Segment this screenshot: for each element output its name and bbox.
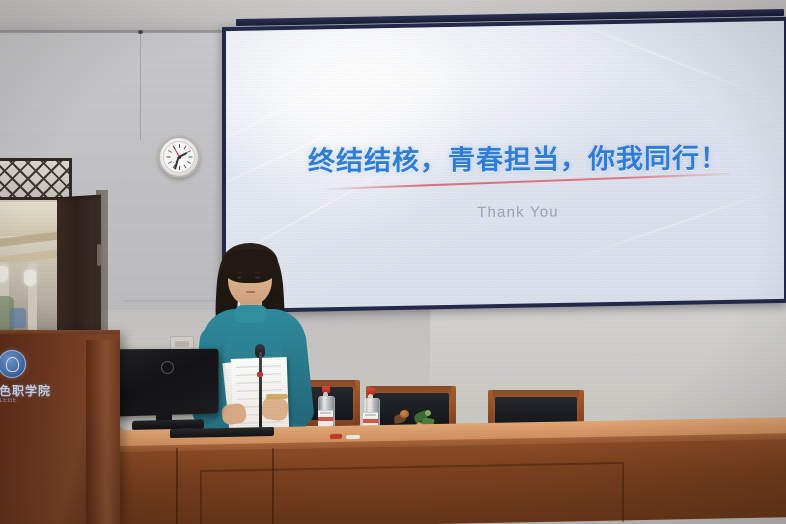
slide-light-streak	[562, 184, 784, 264]
eyebrow-right	[254, 272, 261, 274]
flower-icon	[400, 410, 409, 418]
desk-item-white	[346, 435, 360, 439]
door-frame-shadow	[96, 190, 108, 346]
clock-tick	[167, 150, 171, 153]
gooseneck-microphone	[259, 352, 262, 438]
bracelet	[266, 394, 288, 399]
chair-post-right	[355, 380, 360, 426]
outdoor-object	[10, 308, 26, 328]
clock-face	[163, 141, 195, 173]
slide-title: 终结结核，青春担当，你我同行！	[298, 136, 738, 178]
clock-tick	[179, 144, 180, 148]
hair-fringe	[224, 249, 276, 269]
eyebrow-left	[236, 272, 243, 274]
desk-panel-divider	[272, 448, 274, 524]
ceiling-fixture	[138, 30, 143, 34]
wall-light-glow	[430, 300, 786, 410]
desk-front-panel	[200, 462, 624, 524]
corridor-lamp-icon	[0, 266, 8, 282]
flower-icon	[425, 410, 431, 416]
clock-tick	[183, 165, 186, 169]
hand-right	[261, 396, 290, 421]
corridor-lamp-icon	[24, 270, 36, 286]
slide-light-streak	[535, 21, 777, 102]
lattice-transom-window	[0, 158, 72, 200]
desk-panel-divider	[176, 448, 178, 524]
clock-tick	[167, 161, 171, 164]
clock-tick	[187, 161, 191, 164]
dell-monitor-rear[interactable]	[111, 349, 218, 417]
eye-left	[237, 276, 242, 279]
mouth	[246, 291, 255, 293]
clock-tick	[188, 157, 192, 158]
turtleneck-collar	[234, 305, 268, 323]
open-door[interactable]	[57, 195, 101, 346]
lecture-hall-photo: 终结结核，青春担当，你我同行！ Thank You	[0, 0, 786, 524]
open-doorway	[0, 192, 60, 344]
exterior-corridor-ceiling	[0, 202, 60, 236]
college-emblem-icon	[0, 350, 26, 378]
microphone-indicator-light	[257, 372, 263, 377]
clock-tick	[183, 145, 186, 149]
eye-right	[255, 276, 260, 279]
transom-glass	[0, 161, 69, 197]
lectern-institution-name: 江色职学院	[0, 382, 94, 399]
clock-center-pin	[178, 156, 181, 159]
desk-item-red	[330, 434, 342, 439]
dell-logo-icon	[161, 361, 174, 374]
diamond-lattice-icon	[0, 161, 69, 197]
wall-clock	[158, 136, 200, 178]
slide-light-glow	[226, 21, 506, 232]
slide-subtitle: Thank You	[298, 202, 738, 222]
wall-seam	[140, 30, 141, 140]
lectern-side-panel	[86, 340, 120, 524]
clock-tick	[179, 166, 180, 170]
clock-tick	[166, 157, 170, 158]
